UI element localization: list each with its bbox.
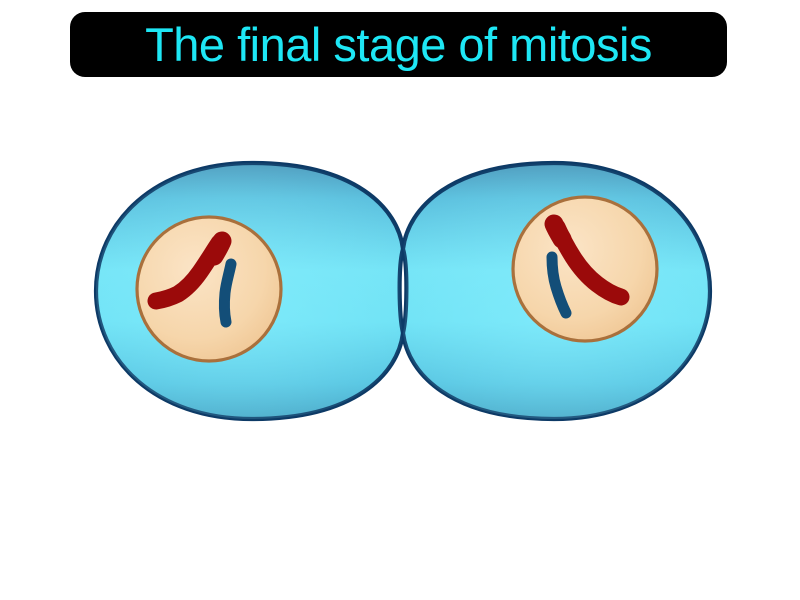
caption-area xyxy=(0,430,800,600)
right-nucleus xyxy=(513,197,657,341)
right-daughter-cell xyxy=(403,163,710,419)
right-nucleus-red-chromosome-cap xyxy=(554,224,562,239)
left-nucleus-red-chromosome-cap xyxy=(214,241,222,256)
left-cell-highlight xyxy=(96,163,403,419)
right-cell-highlight xyxy=(403,163,710,419)
right-cell-membrane xyxy=(403,163,710,419)
image-canvas: The final stage of mitosis xyxy=(0,0,800,600)
left-cell-membrane xyxy=(96,163,403,419)
right-nucleus-red-chromosome xyxy=(557,227,621,297)
left-daughter-cell xyxy=(96,163,403,419)
title-banner: The final stage of mitosis xyxy=(70,12,727,77)
left-nucleus xyxy=(137,217,281,361)
page-title: The final stage of mitosis xyxy=(145,21,652,68)
right-nucleus-blue-chromosome xyxy=(552,257,566,313)
left-nucleus-blue-chromosome xyxy=(224,264,231,322)
left-nucleus-red-chromosome xyxy=(156,243,219,301)
